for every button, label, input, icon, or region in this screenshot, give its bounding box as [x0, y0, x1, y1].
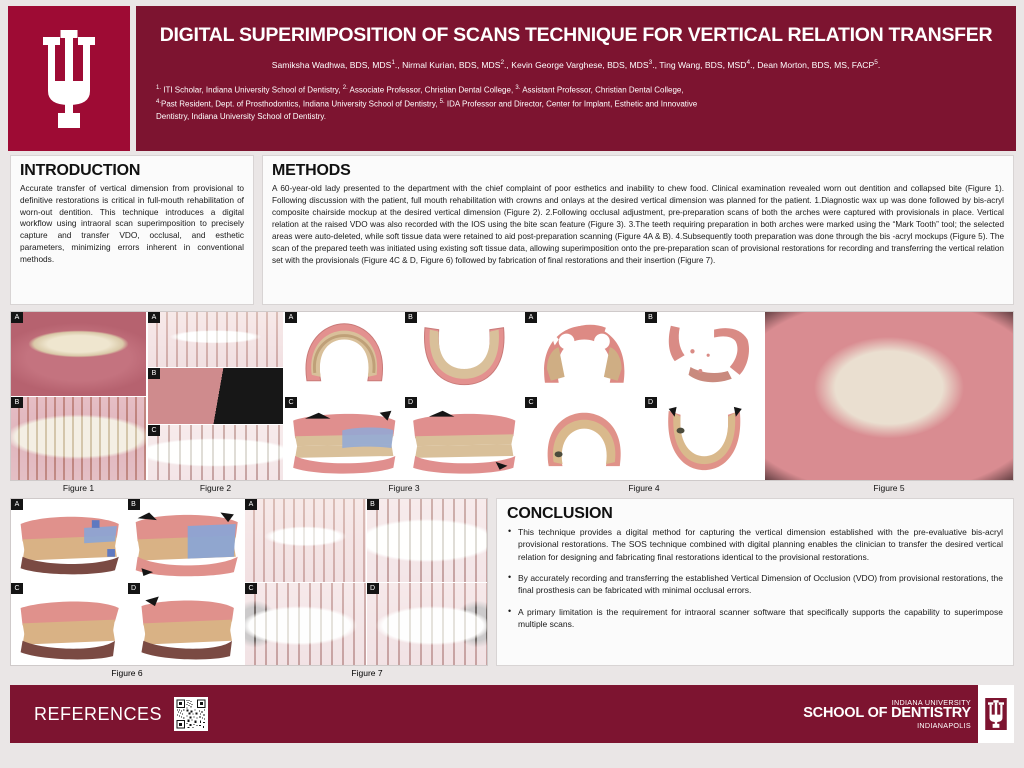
affiliations: 1. ITI Scholar, Indiana University Schoo…: [152, 84, 1000, 122]
figure-2: A B C: [148, 312, 283, 480]
methods-body: A 60-year-old lady presented to the depa…: [272, 183, 1004, 267]
introduction-body: Accurate transfer of vertical dimension …: [20, 183, 244, 265]
figure-7-panel-b: B: [367, 499, 488, 582]
iu-trident-icon-footer: [985, 698, 1007, 730]
panel-label: C: [11, 583, 23, 594]
figure-4-panel-c: C: [525, 397, 644, 481]
figure-1-panel-a: A: [11, 312, 146, 396]
superimposed-scan-b: [128, 499, 244, 581]
panel-label: B: [645, 312, 657, 323]
bite-scan-buccal: [405, 397, 524, 481]
figure-7-panel-d: D: [367, 583, 488, 666]
school-line-campus: INDIANAPOLIS: [803, 722, 971, 730]
maxillary-arch-scan: [285, 312, 404, 396]
figure-3-caption: Figure 3: [284, 483, 524, 493]
figure-captions-bottom: Figure 6 Figure 7: [10, 666, 1014, 680]
figure-6-caption: Figure 6: [10, 668, 244, 678]
figure-5-caption: Figure 5: [764, 483, 1014, 493]
figure-1-panel-b: B: [11, 397, 146, 481]
figure-3: A B C: [285, 312, 523, 480]
list-item: This technique provides a digital method…: [507, 526, 1003, 563]
panel-label: D: [367, 583, 379, 594]
qr-code-icon[interactable]: [174, 697, 208, 731]
figure-6-panel-d: D: [128, 583, 244, 666]
panel-label: D: [645, 397, 657, 408]
introduction-heading: INTRODUCTION: [20, 162, 244, 180]
figure-row-bottom: A B: [0, 498, 1024, 666]
superimposed-scan-c: [11, 583, 127, 665]
panel-label: B: [128, 499, 140, 510]
figure-3-panel-b: B: [405, 312, 524, 396]
author-list: Samiksha Wadhwa, BDS, MDS1., Nirmal Kuri…: [152, 59, 1000, 71]
methods-heading: METHODS: [272, 162, 1004, 180]
page-title: DIGITAL SUPERIMPOSITION OF SCANS TECHNIQ…: [152, 25, 1000, 46]
maxillary-arch-marked-deleted: [525, 312, 644, 396]
school-of-dentistry-text: INDIANA UNIVERSITY SCHOOL OF DENTISTRY I…: [803, 699, 974, 729]
mandibular-arch-marked-deleted: [645, 312, 764, 396]
school-line-name: SCHOOL OF DENTISTRY: [803, 706, 971, 721]
figure-row-top: A B A B C: [10, 311, 1014, 481]
figure-captions-top: Figure 1 Figure 2 Figure 3 Figure 4 Figu…: [10, 481, 1014, 495]
panel-label: A: [148, 312, 160, 323]
introduction-panel: INTRODUCTION Accurate transfer of vertic…: [10, 155, 254, 305]
figure-7-panel-c: C: [245, 583, 366, 666]
superimposed-scan-d: [128, 583, 244, 665]
figure-3-panel-d: D: [405, 397, 524, 481]
figure-2-panel-b: B: [148, 368, 283, 423]
figure-7: A B C D: [245, 499, 487, 665]
references-label: REFERENCES: [34, 704, 162, 725]
panel-label: A: [11, 312, 23, 323]
figure-6: A B: [11, 499, 243, 665]
iu-logo-box: [8, 6, 130, 151]
figure-6-panel-c: C: [11, 583, 127, 666]
figure-4-panel-a: A: [525, 312, 644, 396]
figure-4-panel-d: D: [645, 397, 764, 481]
poster-root: DIGITAL SUPERIMPOSITION OF SCANS TECHNIQ…: [0, 0, 1024, 768]
figure-5: [765, 312, 1013, 480]
header-title-box: DIGITAL SUPERIMPOSITION OF SCANS TECHNIQ…: [136, 6, 1016, 151]
figure-6-panel-b: B: [128, 499, 244, 582]
school-of-dentistry-logo: INDIANA UNIVERSITY SCHOOL OF DENTISTRY I…: [803, 685, 1014, 743]
panel-label: C: [525, 397, 537, 408]
panel-label: C: [245, 583, 257, 594]
figure-6-panel-a: A: [11, 499, 127, 582]
maxillary-prepared-scan: [525, 397, 644, 481]
panel-label: A: [525, 312, 537, 323]
poster-header: DIGITAL SUPERIMPOSITION OF SCANS TECHNIQ…: [0, 0, 1024, 155]
qr-code-glyph: [176, 699, 206, 729]
panel-label: B: [11, 397, 23, 408]
panel-label: B: [367, 499, 379, 510]
iu-trident-icon: [34, 27, 104, 131]
list-item: By accurately recording and transferring…: [507, 572, 1003, 597]
poster-footer: REFERENCES: [10, 685, 1014, 743]
list-item: A primary limitation is the requirement …: [507, 606, 1003, 631]
figure-3-panel-a: A: [285, 312, 404, 396]
text-sections-row: INTRODUCTION Accurate transfer of vertic…: [0, 155, 1024, 305]
figure-2-panel-c: C: [148, 425, 283, 480]
iu-mark-box: [978, 685, 1014, 743]
methods-panel: METHODS A 60-year-old lady presented to …: [262, 155, 1014, 305]
panel-label: A: [11, 499, 23, 510]
conclusion-list: This technique provides a digital method…: [507, 526, 1003, 630]
figure-4-caption: Figure 4: [524, 483, 764, 493]
figure-5-image: [765, 312, 1013, 480]
figure-4-panel-b: B: [645, 312, 764, 396]
figure-7-caption: Figure 7: [244, 668, 490, 678]
figure-7-panel-a: A: [245, 499, 366, 582]
figure-1: A B: [11, 312, 146, 480]
mandibular-prepared-scan: [645, 397, 764, 481]
panel-label: C: [285, 397, 297, 408]
figure-4: A B: [525, 312, 763, 480]
panel-label: A: [285, 312, 297, 323]
figure-1-caption: Figure 1: [10, 483, 147, 493]
panel-label: D: [405, 397, 417, 408]
panel-label: D: [128, 583, 140, 594]
conclusion-panel: CONCLUSION This technique provides a dig…: [496, 498, 1014, 666]
mandibular-arch-scan: [405, 312, 524, 396]
panel-label: B: [405, 312, 417, 323]
figure-2-caption: Figure 2: [147, 483, 284, 493]
bite-scan-buccal-blue: [285, 397, 404, 481]
panel-label: A: [245, 499, 257, 510]
panel-label: B: [148, 368, 160, 379]
figure-2-panel-a: A: [148, 312, 283, 367]
figure-3-panel-c: C: [285, 397, 404, 481]
figure-group-6-7: A B: [10, 498, 488, 666]
conclusion-heading: CONCLUSION: [507, 505, 1003, 523]
panel-label: C: [148, 425, 160, 436]
superimposed-scan-a: [11, 499, 127, 581]
